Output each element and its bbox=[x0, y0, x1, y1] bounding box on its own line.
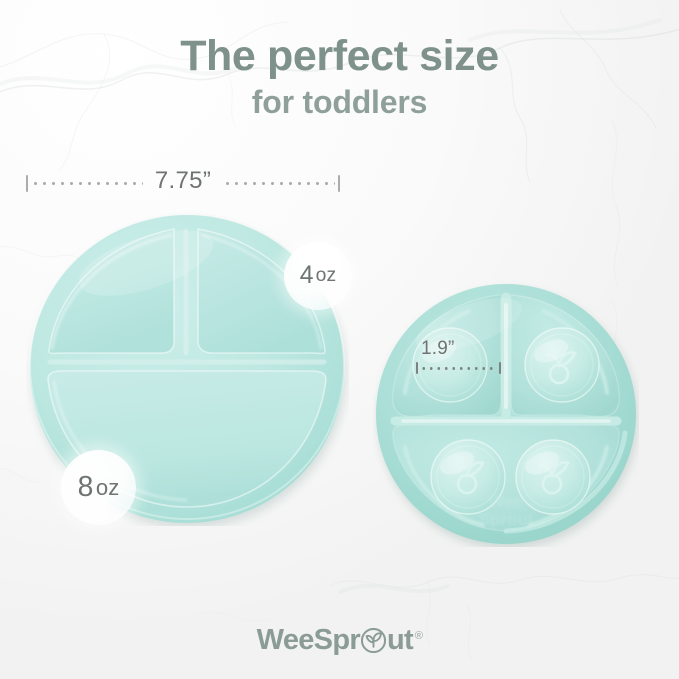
capacity-badge-8oz-unit: oz bbox=[96, 475, 120, 501]
capacity-badge-4oz-unit: oz bbox=[316, 265, 337, 287]
brand-text-part3: ut bbox=[387, 624, 413, 657]
brand-logo: WeeS pr ut ® bbox=[0, 624, 679, 657]
suction-cup-ruler-line bbox=[416, 362, 501, 374]
ruler-end-cap-left bbox=[26, 175, 28, 192]
capacity-badge-4oz-number: 4 bbox=[300, 262, 313, 290]
registered-trademark-symbol: ® bbox=[415, 630, 422, 642]
headline-block: The perfect size for toddlers bbox=[0, 34, 679, 120]
svg-text:Wee: Wee bbox=[489, 492, 524, 511]
suction-cup-diameter-ruler: 1.9” bbox=[416, 339, 501, 374]
headline-primary: The perfect size bbox=[0, 34, 679, 79]
plate-back-graphic: Wee Sprout bbox=[373, 281, 639, 547]
capacity-badge-8oz: 8 oz bbox=[61, 450, 136, 525]
plate-diameter-label: 7.75” bbox=[146, 167, 220, 195]
ruler-small-end-cap-left bbox=[416, 362, 418, 374]
plate-diameter-ruler: 7.75” bbox=[26, 170, 340, 196]
sprout-icon bbox=[361, 628, 386, 653]
product-marketing-image: The perfect size for toddlers 7.75” bbox=[0, 0, 679, 679]
brand-text-part1: WeeS bbox=[257, 624, 333, 657]
suction-cup-top-right bbox=[525, 328, 599, 402]
svg-text:Sprout: Sprout bbox=[479, 510, 534, 529]
suction-cup-bottom-right bbox=[516, 440, 590, 514]
brand-text-part2: pr bbox=[332, 624, 360, 657]
capacity-badge-8oz-number: 8 bbox=[78, 471, 93, 504]
ruler-end-cap-right bbox=[338, 175, 340, 192]
capacity-badge-4oz: 4 oz bbox=[284, 242, 352, 310]
divided-plate-back: Wee Sprout bbox=[373, 281, 639, 547]
brand-wordmark: WeeS pr ut ® bbox=[257, 624, 423, 657]
ruler-small-end-cap-right bbox=[499, 362, 501, 374]
headline-secondary: for toddlers bbox=[0, 86, 679, 120]
ruler-small-dotted-line bbox=[420, 367, 497, 370]
ruler-dotted-line-left bbox=[31, 182, 143, 185]
suction-cup-diameter-label: 1.9” bbox=[416, 339, 501, 358]
ruler-dotted-line-right bbox=[223, 182, 335, 185]
